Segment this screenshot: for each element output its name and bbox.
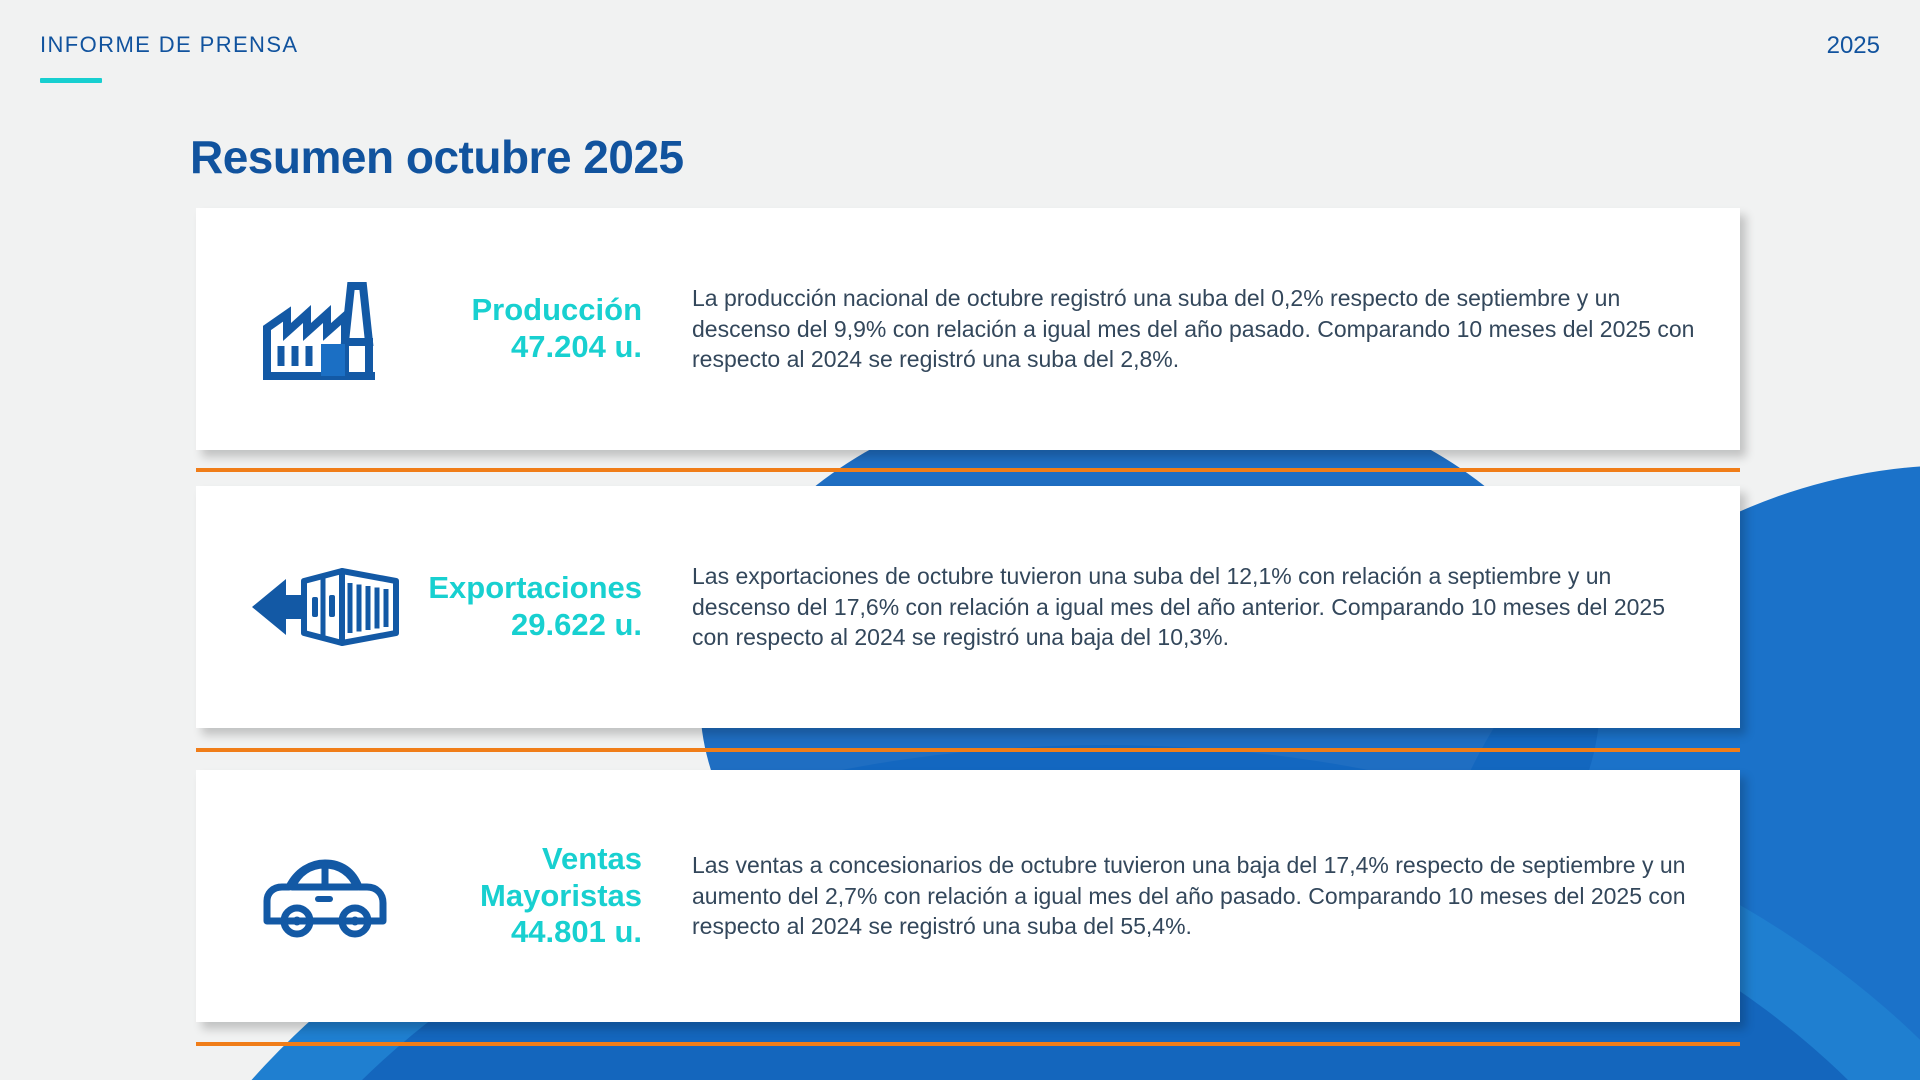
kicker-underline (40, 78, 102, 83)
summary-card-exportaciones: Exportaciones 29.622 u. Las exportacione… (196, 486, 1740, 728)
card-title: Ventas Mayoristas (480, 841, 642, 913)
summary-card-ventas-mayoristas: Ventas Mayoristas 44.801 u. Las ventas a… (196, 770, 1740, 1022)
card-divider-rule (196, 468, 1740, 472)
card-body: Las exportaciones de octubre tuvieron un… (668, 561, 1740, 653)
slide-canvas: INFORME DE PRENSA 2025 Resumen octubre 2… (0, 0, 1920, 1080)
factory-icon (259, 272, 391, 386)
card-body: Las ventas a concesionarios de octubre t… (668, 850, 1740, 942)
report-kicker: INFORME DE PRENSA (40, 32, 299, 58)
card-icon-cell (196, 770, 428, 1022)
page-title: Resumen octubre 2025 (190, 130, 684, 184)
card-title: Producción (471, 292, 642, 327)
card-amount: 29.622 u. (428, 607, 642, 644)
shipping-container-icon (250, 561, 400, 653)
card-icon-cell (196, 486, 428, 728)
summary-card-produccion: Producción 47.204 u. La producción nacio… (196, 208, 1740, 450)
card-title-cell: Exportaciones 29.622 u. (428, 570, 668, 643)
card-title: Exportaciones (428, 570, 642, 605)
card-title-cell: Ventas Mayoristas 44.801 u. (428, 841, 668, 951)
report-year: 2025 (1827, 32, 1880, 60)
card-title-cell: Producción 47.204 u. (428, 292, 668, 365)
card-amount: 47.204 u. (428, 329, 642, 366)
car-icon (259, 853, 391, 939)
card-divider-rule (196, 1042, 1740, 1046)
card-amount: 44.801 u. (428, 914, 642, 951)
card-divider-rule (196, 748, 1740, 752)
card-icon-cell (196, 208, 428, 450)
card-body: La producción nacional de octubre regist… (668, 283, 1740, 375)
slide-header: INFORME DE PRENSA 2025 (0, 0, 1920, 110)
